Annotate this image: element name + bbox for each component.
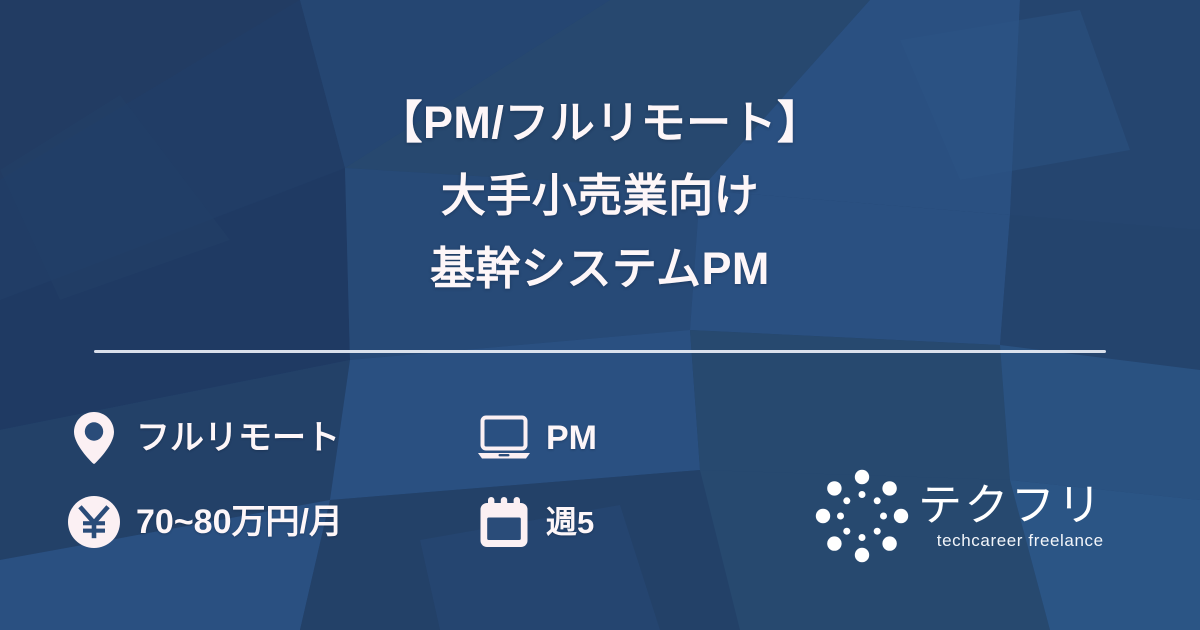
yen-circle-icon — [66, 494, 122, 550]
meta-item-workdays: 週5 — [476, 494, 756, 550]
dot-cluster-icon — [812, 466, 912, 566]
section-divider — [94, 350, 1106, 353]
meta-item-worklocation: フルリモート — [66, 410, 476, 466]
job-meta-grid: フルリモート PM — [66, 396, 766, 564]
meta-row-1: フルリモート PM — [66, 396, 766, 480]
meta-label-role: PM — [546, 421, 597, 455]
location-pin-icon — [66, 410, 122, 466]
job-title-line-2: 大手小売業向け — [0, 159, 1200, 232]
ogp-card: 【PM/フルリモート】 大手小売業向け 基幹システムPM フルリモート — [0, 0, 1200, 630]
meta-label-worklocation: フルリモート — [136, 421, 340, 455]
brand-logo: テクフリ techcareer freelance — [812, 466, 1142, 566]
laptop-icon — [476, 410, 532, 466]
meta-row-2: 70~80万円/月 週5 — [66, 480, 766, 564]
job-title-block: 【PM/フルリモート】 大手小売業向け 基幹システムPM — [0, 86, 1200, 305]
meta-item-rate: 70~80万円/月 — [66, 494, 476, 550]
job-title-line-1: 【PM/フルリモート】 — [0, 86, 1200, 159]
logo-wordmark: テクフリ — [918, 483, 1104, 529]
logo-text-group: テクフリ techcareer freelance — [918, 483, 1104, 549]
logo-tagline: techcareer freelance — [918, 532, 1104, 549]
meta-item-role: PM — [476, 410, 756, 466]
job-title-line-3: 基幹システムPM — [0, 232, 1200, 305]
meta-label-workdays: 週5 — [546, 507, 594, 538]
meta-label-rate: 70~80万円/月 — [136, 505, 343, 539]
calendar-icon — [476, 494, 532, 550]
